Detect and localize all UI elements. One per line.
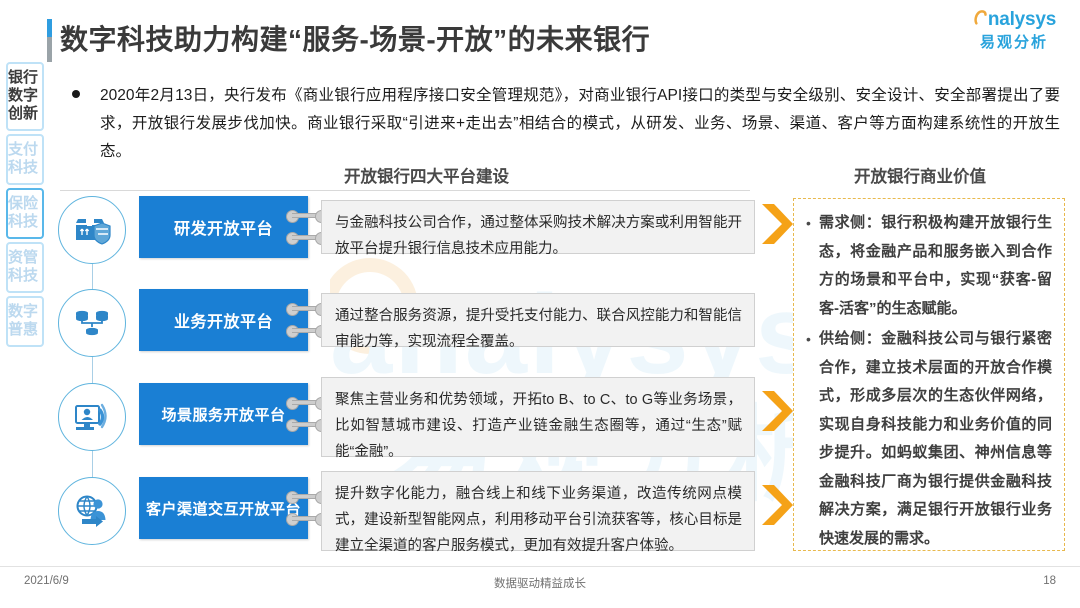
platform-description: 与金融科技公司合作，通过整体采购技术解决方案或利用智能开放平台提升银行信息技术应… <box>321 200 755 254</box>
connector-spine <box>92 228 93 513</box>
heading-right: 开放银行商业价值 <box>854 163 986 187</box>
monitor-user-signal-icon <box>58 383 126 451</box>
sidebar-item-label: 银行数字创新 <box>8 69 42 123</box>
coin-stacks-icon <box>58 289 126 357</box>
globe-user-arrow-icon <box>58 477 126 545</box>
sidebar-item-label: 资管科技 <box>8 249 42 285</box>
platform-description: 聚焦主营业务和优势领域，开拓to B、to C、to G等业务场景，比如智慧城市… <box>321 377 755 457</box>
analysys-mark-icon <box>972 10 989 30</box>
platform-label[interactable]: 研发开放平台 <box>139 196 308 258</box>
footer-slogan: 数据驱动精益成长 <box>0 575 1080 591</box>
footer-divider <box>0 566 1080 567</box>
footer-page-number: 18 <box>1043 575 1056 587</box>
brand-logo: nalysys 易观分析 <box>960 10 1068 52</box>
sidebar-item-payment-tech[interactable]: 支付科技 <box>6 134 44 185</box>
sidebar-item-bank-digital-innovation[interactable]: 银行数字创新 <box>6 62 44 131</box>
slide-canvas: analysys 易观分析 数字科技助力构建“服务-场景-开放”的未来银行 na… <box>0 0 1080 608</box>
logo-chinese-name: 易观分析 <box>960 31 1068 52</box>
chevron-right-icon <box>760 483 794 527</box>
lead-paragraph: 2020年2月13日，央行发布《商业银行应用程序接口安全管理规范》，对商业银行A… <box>100 82 1060 166</box>
platform-description: 通过整合服务资源，提升受托支付能力、联合风控能力和智能信审能力等，实现流程全覆盖… <box>321 293 755 347</box>
sidebar-item-asset-management-tech[interactable]: 资管科技 <box>6 242 44 293</box>
chevron-right-icon <box>760 202 794 246</box>
sidebar-item-label: 支付科技 <box>8 141 42 177</box>
value-list-item: • 供给侧：金融科技公司与银行紧密合作，建立技术层面的开放合作模式，形成多层次的… <box>804 325 1052 553</box>
heading-left: 开放银行四大平台建设 <box>344 163 509 187</box>
sidebar-item-label: 保险科技 <box>8 195 42 231</box>
platform-label[interactable]: 场景服务开放平台 <box>139 383 308 445</box>
value-item-text: 供给侧：金融科技公司与银行紧密合作，建立技术层面的开放合作模式，形成多层次的生态… <box>819 325 1052 553</box>
platform-description: 提升数字化能力，融合线上和线下业务渠道，改造传统网点模式，建设新型智能网点，利用… <box>321 471 755 551</box>
sidebar-rail: 银行数字创新 支付科技 保险科技 资管科技 数字普惠 <box>6 62 44 350</box>
sidebar-item-insurance-tech[interactable]: 保险科技 <box>6 188 44 239</box>
package-shield-icon <box>58 196 126 264</box>
lead-bullet-icon <box>72 90 80 98</box>
logo-wordmark: nalysys <box>988 10 1056 30</box>
sidebar-item-label: 数字普惠 <box>8 303 42 339</box>
value-panel: • 需求侧：银行积极构建开放银行生态，将金融产品和服务嵌入到合作方的场景和平台中… <box>793 198 1065 551</box>
sidebar-item-digital-inclusive-finance[interactable]: 数字普惠 <box>6 296 44 347</box>
value-list-item: • 需求侧：银行积极构建开放银行生态，将金融产品和服务嵌入到合作方的场景和平台中… <box>804 209 1052 323</box>
platform-label[interactable]: 客户渠道交互开放平台 <box>139 477 308 539</box>
page-title: 数字科技助力构建“服务-场景-开放”的未来银行 <box>60 18 650 58</box>
title-accent-bar <box>47 19 52 62</box>
value-item-text: 需求侧：银行积极构建开放银行生态，将金融产品和服务嵌入到合作方的场景和平台中，实… <box>819 209 1052 323</box>
platform-label[interactable]: 业务开放平台 <box>139 289 308 351</box>
chevron-right-icon <box>760 389 794 433</box>
heading-divider <box>60 190 750 191</box>
value-bullet-icon: • <box>804 209 813 323</box>
value-bullet-icon: • <box>804 325 813 553</box>
